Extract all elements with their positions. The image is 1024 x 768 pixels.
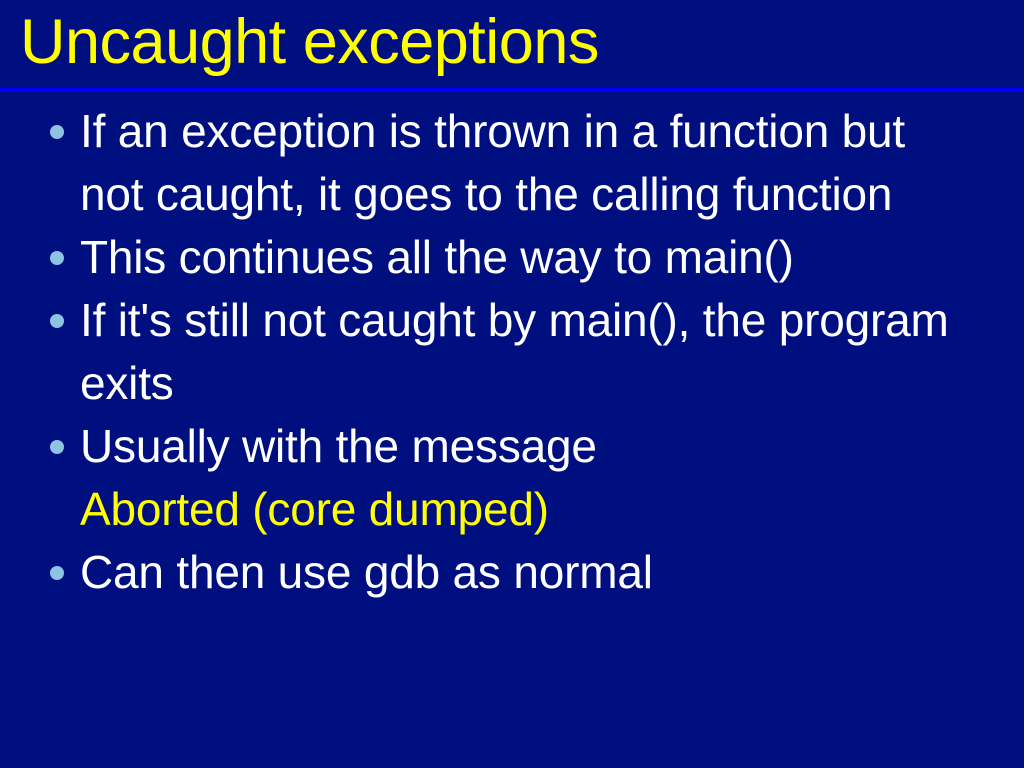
- slide-title-block: Uncaught exceptions: [0, 0, 1024, 88]
- list-item: If an exception is thrown in a function …: [0, 100, 1024, 226]
- slide-body: If an exception is thrown in a function …: [0, 100, 1024, 604]
- bullet-text: If it's still not caught by main(), the …: [80, 289, 960, 415]
- bullet-continuation-text: Aborted (core dumped): [80, 478, 960, 541]
- bullet-point-icon: [50, 566, 64, 580]
- bullet-point-icon: [50, 125, 64, 139]
- bullet-list: If an exception is thrown in a function …: [0, 100, 1024, 604]
- page-title: Uncaught exceptions: [20, 2, 599, 82]
- list-item: If it's still not caught by main(), the …: [0, 289, 1024, 415]
- list-item: Usually with the message Aborted (core d…: [0, 415, 1024, 541]
- bullet-text: This continues all the way to main(): [80, 226, 960, 289]
- bullet-text: If an exception is thrown in a function …: [80, 100, 960, 226]
- bullet-text: Can then use gdb as normal: [80, 541, 960, 604]
- title-divider: [0, 88, 1024, 92]
- slide-canvas: Uncaught exceptions If an exception is t…: [0, 0, 1024, 768]
- list-item: This continues all the way to main(): [0, 226, 1024, 289]
- bullet-point-icon: [50, 440, 64, 454]
- list-item: Can then use gdb as normal: [0, 541, 1024, 604]
- bullet-text: Usually with the message: [80, 415, 960, 478]
- bullet-point-icon: [50, 314, 64, 328]
- bullet-point-icon: [50, 251, 64, 265]
